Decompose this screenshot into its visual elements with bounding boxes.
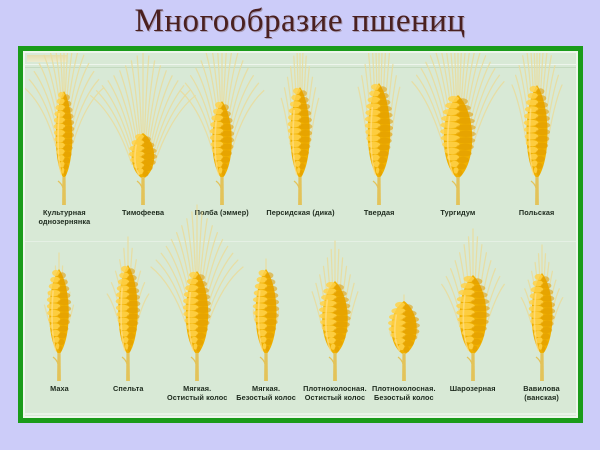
poster-root: Многообразие пшениц Культурная однозерня… [0, 0, 600, 450]
wheat-ear-illustration [497, 57, 576, 209]
wheat-variety-label: Спельта [94, 385, 163, 394]
wheat-row-bottom: МахаСпельтаМягкая. Остистый колосМягкая.… [25, 247, 576, 418]
wheat-variety-label: Шарозерная [438, 385, 507, 394]
wheat-variety-label: Вавилова (ванская) [507, 385, 576, 402]
board-bottom-highlight [25, 413, 576, 415]
wheat-variety-label: Маха [25, 385, 94, 394]
wheat-ear-illustration [507, 247, 576, 385]
page-title: Многообразие пшениц [0, 2, 600, 40]
wheat-variety-label: Плотноколосная. Безостый колос [369, 385, 438, 402]
wheat-ear-icon [477, 51, 578, 209]
wheat-variety-cell: Вавилова (ванская) [507, 247, 576, 402]
wheat-variety-label: Мягкая. Остистый колос [163, 385, 232, 402]
wheat-variety-cell: Польская [497, 57, 576, 218]
wheat-ear-icon [482, 215, 578, 385]
board-inner: Культурная однозернянкаТимофееваПолба (э… [23, 51, 578, 418]
illustration-board: Культурная однозернянкаТимофееваПолба (э… [18, 46, 583, 423]
wheat-variety-label: Мягкая. Безостый колос [232, 385, 301, 402]
wheat-variety-label: Плотноколосная. Остистый колос [301, 385, 370, 402]
